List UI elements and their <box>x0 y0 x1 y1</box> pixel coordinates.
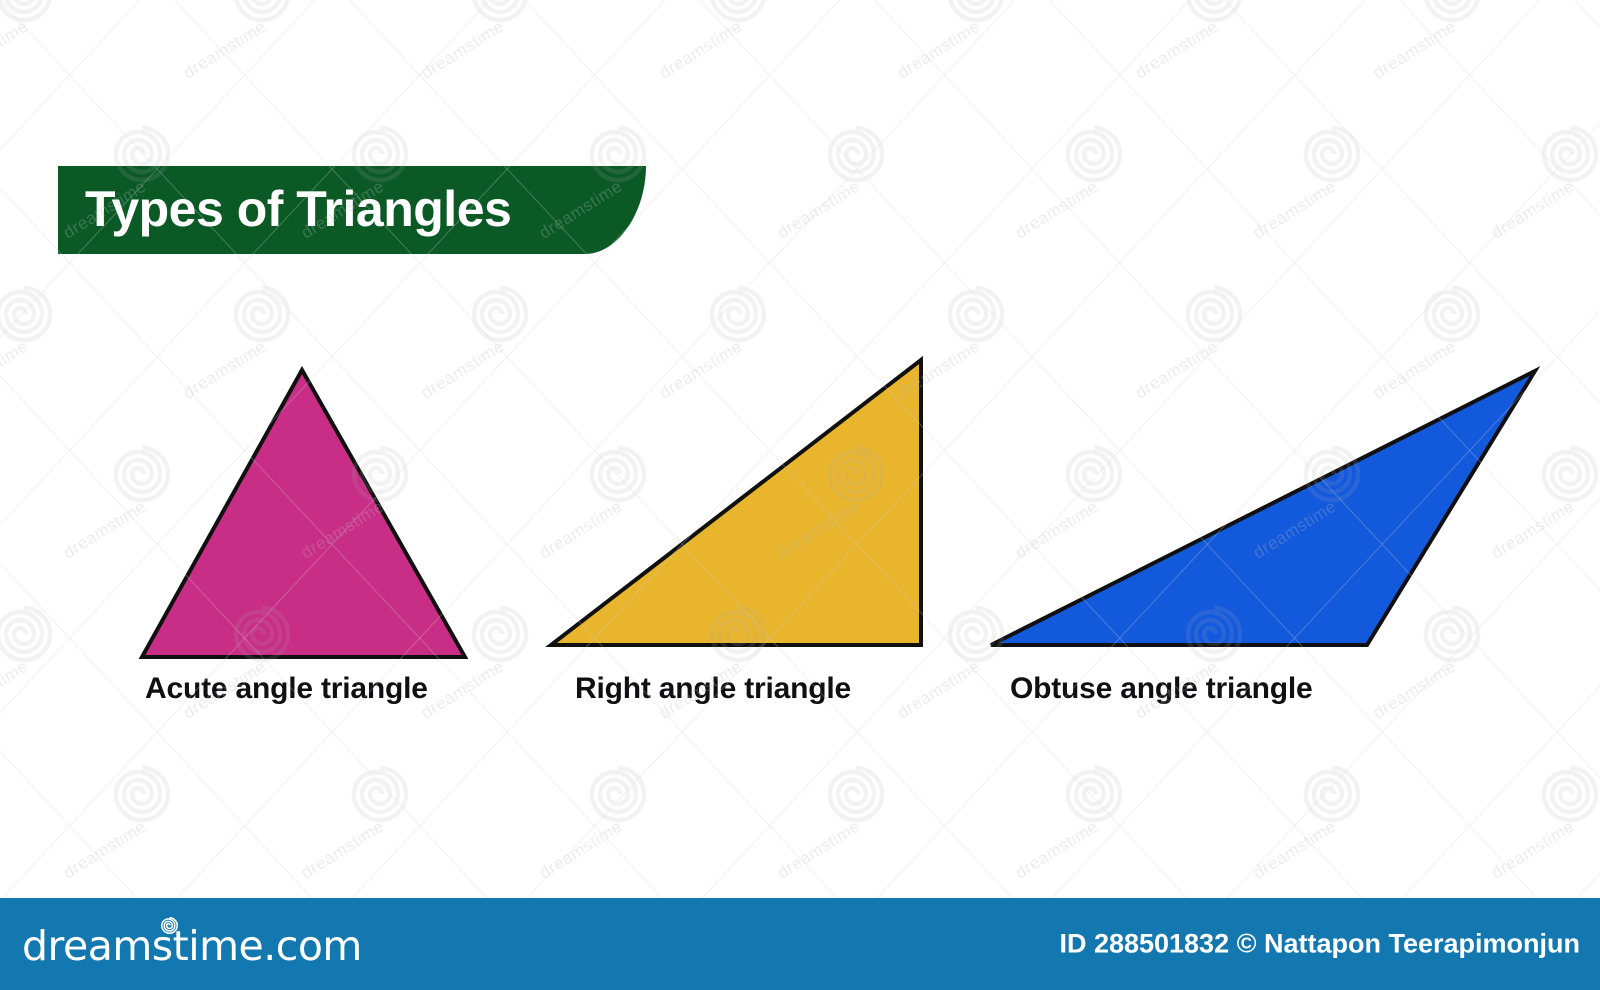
watermark-guide-line <box>350 0 1203 915</box>
watermark-text: dreamstime <box>536 817 626 884</box>
spiral-watermark-icon <box>468 282 532 346</box>
triangles-group <box>0 0 1600 990</box>
watermark-guide-line <box>1050 0 1600 901</box>
watermark-text: dreamstime <box>1012 177 1102 244</box>
spiral-watermark-icon <box>1300 122 1364 186</box>
spiral-watermark-icon <box>0 0 56 26</box>
watermark-guide-line <box>0 0 853 915</box>
page-title: Types of Triangles <box>85 180 511 238</box>
watermark-text: dreamstime <box>1488 497 1578 564</box>
watermark-guide-line <box>0 0 503 901</box>
spiral-watermark-icon <box>1182 602 1246 666</box>
spiral-watermark-icon <box>1062 122 1126 186</box>
watermark-guide-line <box>1050 0 1600 915</box>
watermark-guide-line <box>1225 0 1600 915</box>
watermark-guide-line <box>0 0 153 915</box>
watermark-text: dreamstime <box>536 497 626 564</box>
watermark-text: dreamstime <box>894 337 984 404</box>
watermark-text: dreamstime <box>1250 177 1340 244</box>
right-triangle-shape <box>551 360 921 645</box>
watermark-text: dreamstime <box>1012 497 1102 564</box>
spiral-watermark-icon <box>348 762 412 826</box>
spiral-watermark-icon <box>586 762 650 826</box>
watermark-text: dreamstime <box>298 817 388 884</box>
spiral-watermark-icon <box>586 442 650 506</box>
watermark-guide-line <box>0 0 853 901</box>
watermark-text: dreamstime <box>656 17 746 84</box>
watermark-text: dreamstime <box>418 17 508 84</box>
obtuse-triangle-shape <box>991 371 1535 645</box>
watermark-guide-line <box>1575 0 1600 901</box>
spiral-watermark-icon <box>824 122 888 186</box>
watermark-text: dreamstime <box>0 657 32 724</box>
dreamstime-watermark-overlay: dreamstimedreamstimedreamstimedreamstime… <box>0 0 1600 900</box>
watermark-text: dreamstime <box>418 657 508 724</box>
spiral-watermark-icon <box>1062 762 1126 826</box>
watermark-text: dreamstime <box>418 337 508 404</box>
spiral-watermark-icon <box>1182 282 1246 346</box>
spiral-watermark-icon <box>706 602 770 666</box>
spiral-watermark-icon <box>1538 762 1600 826</box>
spiral-watermark-icon <box>110 442 174 506</box>
watermark-text: dreamstime <box>60 497 150 564</box>
spiral-watermark-icon <box>1062 442 1126 506</box>
spiral-watermark-icon <box>468 602 532 666</box>
watermark-text: dreamstime <box>1012 817 1102 884</box>
watermark-guide-line <box>700 0 1553 915</box>
triangles-svg <box>0 0 1600 990</box>
spiral-watermark-icon <box>944 602 1008 666</box>
watermark-text: dreamstime <box>298 497 388 564</box>
watermark-guide-line <box>1400 0 1600 901</box>
watermark-text: dreamstime <box>1250 497 1340 564</box>
watermark-guide-line <box>175 0 1028 915</box>
watermark-text: dreamstime <box>180 17 270 84</box>
spiral-watermark-icon <box>944 0 1008 26</box>
spiral-watermark-icon <box>230 602 294 666</box>
watermark-text: dreamstime <box>0 17 32 84</box>
watermark-text: dreamstime <box>1370 17 1460 84</box>
watermark-text: dreamstime <box>1250 817 1340 884</box>
watermark-text: dreamstime <box>894 657 984 724</box>
watermark-text: dreamstime <box>1370 337 1460 404</box>
watermark-guide-line <box>350 0 1203 901</box>
watermark-guide-line <box>525 0 1378 915</box>
spiral-watermark-icon <box>110 762 174 826</box>
watermark-guide-line <box>0 0 328 901</box>
watermark-guide-line <box>1225 0 1600 901</box>
spiral-watermark-icon <box>1182 0 1246 26</box>
watermark-guide-line <box>0 0 678 901</box>
watermark-text: dreamstime <box>774 497 864 564</box>
watermark-text: dreamstime <box>0 337 32 404</box>
spiral-watermark-icon <box>0 602 56 666</box>
right-triangle-label: Right angle triangle <box>575 672 851 706</box>
watermark-guide-line <box>1575 0 1600 915</box>
image-credit: ID 288501832 © Nattapon Teerapimonjun <box>1059 929 1580 960</box>
spiral-watermark-icon <box>230 282 294 346</box>
spiral-watermark-icon <box>468 0 532 26</box>
spiral-watermark-icon <box>1538 442 1600 506</box>
spiral-watermark-icon <box>0 282 56 346</box>
watermark-guide-line <box>0 0 678 915</box>
acute-triangle-shape <box>142 370 465 657</box>
watermark-text: dreamstime <box>656 337 746 404</box>
spiral-watermark-icon <box>230 0 294 26</box>
spiral-watermark-icon <box>706 0 770 26</box>
illustration-canvas: Types of Triangles Acute angle triangle … <box>0 0 1600 990</box>
watermark-text: dreamstime <box>1132 337 1222 404</box>
watermark-guide-line <box>700 0 1553 901</box>
watermark-guide-line <box>875 0 1600 915</box>
watermark-guide-line <box>0 0 503 915</box>
spiral-watermark-icon <box>1420 282 1484 346</box>
spiral-watermark-icon <box>348 442 412 506</box>
watermark-text: dreamstime <box>1488 817 1578 884</box>
watermark-guide-line <box>175 0 1028 901</box>
title-banner: Types of Triangles <box>58 166 648 254</box>
spiral-watermark-icon <box>160 916 179 935</box>
spiral-watermark-icon <box>944 282 1008 346</box>
watermark-text: dreamstime <box>180 337 270 404</box>
spiral-watermark-icon <box>1420 602 1484 666</box>
watermark-guide-line <box>1400 0 1600 915</box>
footer-bar: dreamstime.com ID 288501832 © Nattapon T… <box>0 898 1600 990</box>
spiral-watermark-icon <box>1420 0 1484 26</box>
watermark-text: dreamstime <box>774 817 864 884</box>
obtuse-triangle-label: Obtuse angle triangle <box>1010 672 1313 706</box>
spiral-watermark-icon <box>1300 442 1364 506</box>
dreamstime-logo: dreamstime.com <box>22 922 362 970</box>
watermark-guide-line <box>875 0 1600 901</box>
spiral-watermark-icon <box>1538 122 1600 186</box>
watermark-text: dreamstime <box>894 17 984 84</box>
spiral-watermark-icon <box>706 282 770 346</box>
spiral-watermark-icon <box>824 762 888 826</box>
watermark-guide-line <box>0 0 153 901</box>
watermark-guide-line <box>0 0 328 915</box>
acute-triangle-label: Acute angle triangle <box>145 672 428 706</box>
watermark-guide-line <box>525 0 1378 901</box>
watermark-text: dreamstime <box>1488 177 1578 244</box>
spiral-watermark-icon <box>1300 762 1364 826</box>
watermark-text: dreamstime <box>60 817 150 884</box>
watermark-text: dreamstime <box>1132 17 1222 84</box>
watermark-text: dreamstime <box>774 177 864 244</box>
watermark-text: dreamstime <box>1370 657 1460 724</box>
spiral-watermark-icon <box>824 442 888 506</box>
